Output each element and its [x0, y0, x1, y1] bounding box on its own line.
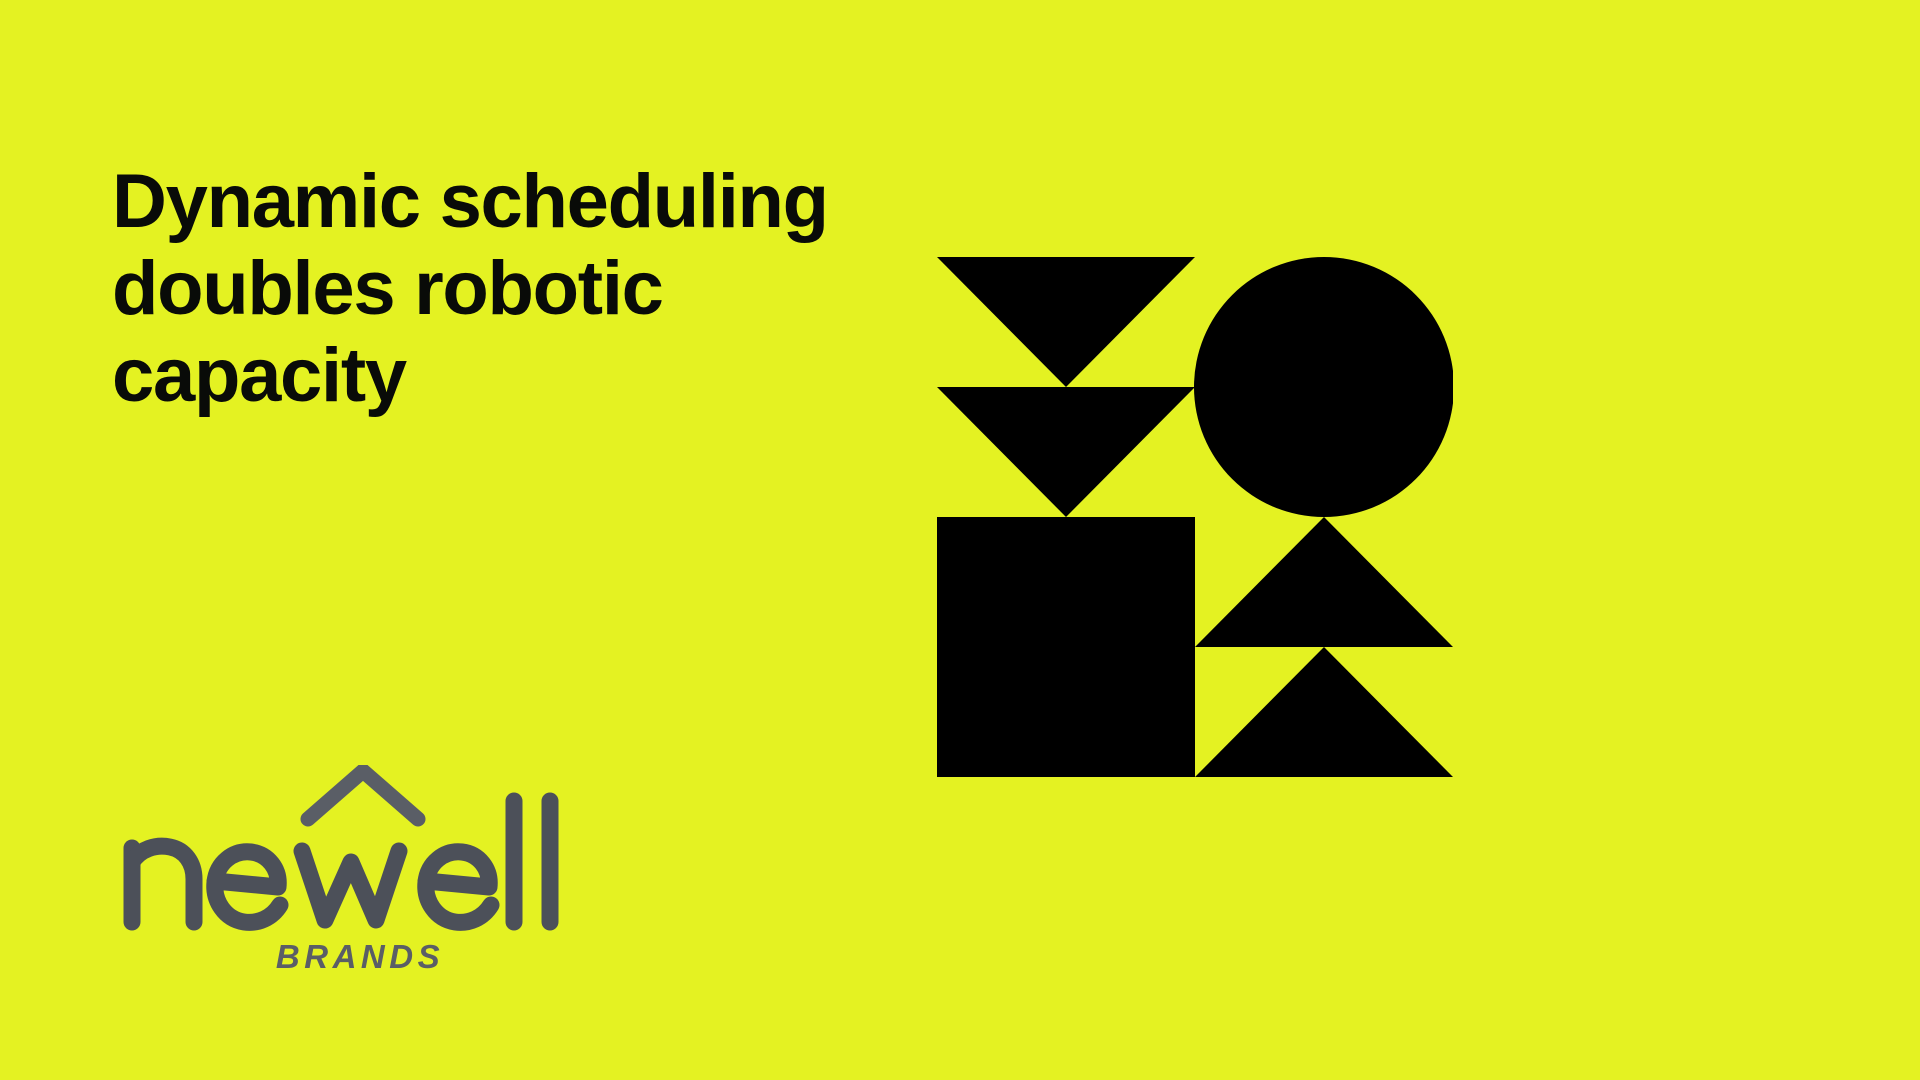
triangle-up-icon-2 — [1195, 647, 1453, 777]
logo-tagline: BRANDS — [276, 938, 444, 975]
logo-wordmark-shape — [132, 801, 550, 922]
newell-brands-logo: BRANDS — [110, 765, 570, 980]
circle-icon-1 — [1194, 257, 1453, 517]
triangle-down-icon-2 — [937, 387, 1195, 517]
triangle-down-icon-1 — [937, 257, 1195, 387]
page-title-line-1: Dynamic scheduling — [112, 158, 1092, 245]
geometric-decoration — [937, 257, 1453, 777]
logo-chevron-icon — [308, 771, 418, 819]
square-icon-1 — [937, 517, 1195, 777]
triangle-up-icon-1 — [1195, 517, 1453, 647]
